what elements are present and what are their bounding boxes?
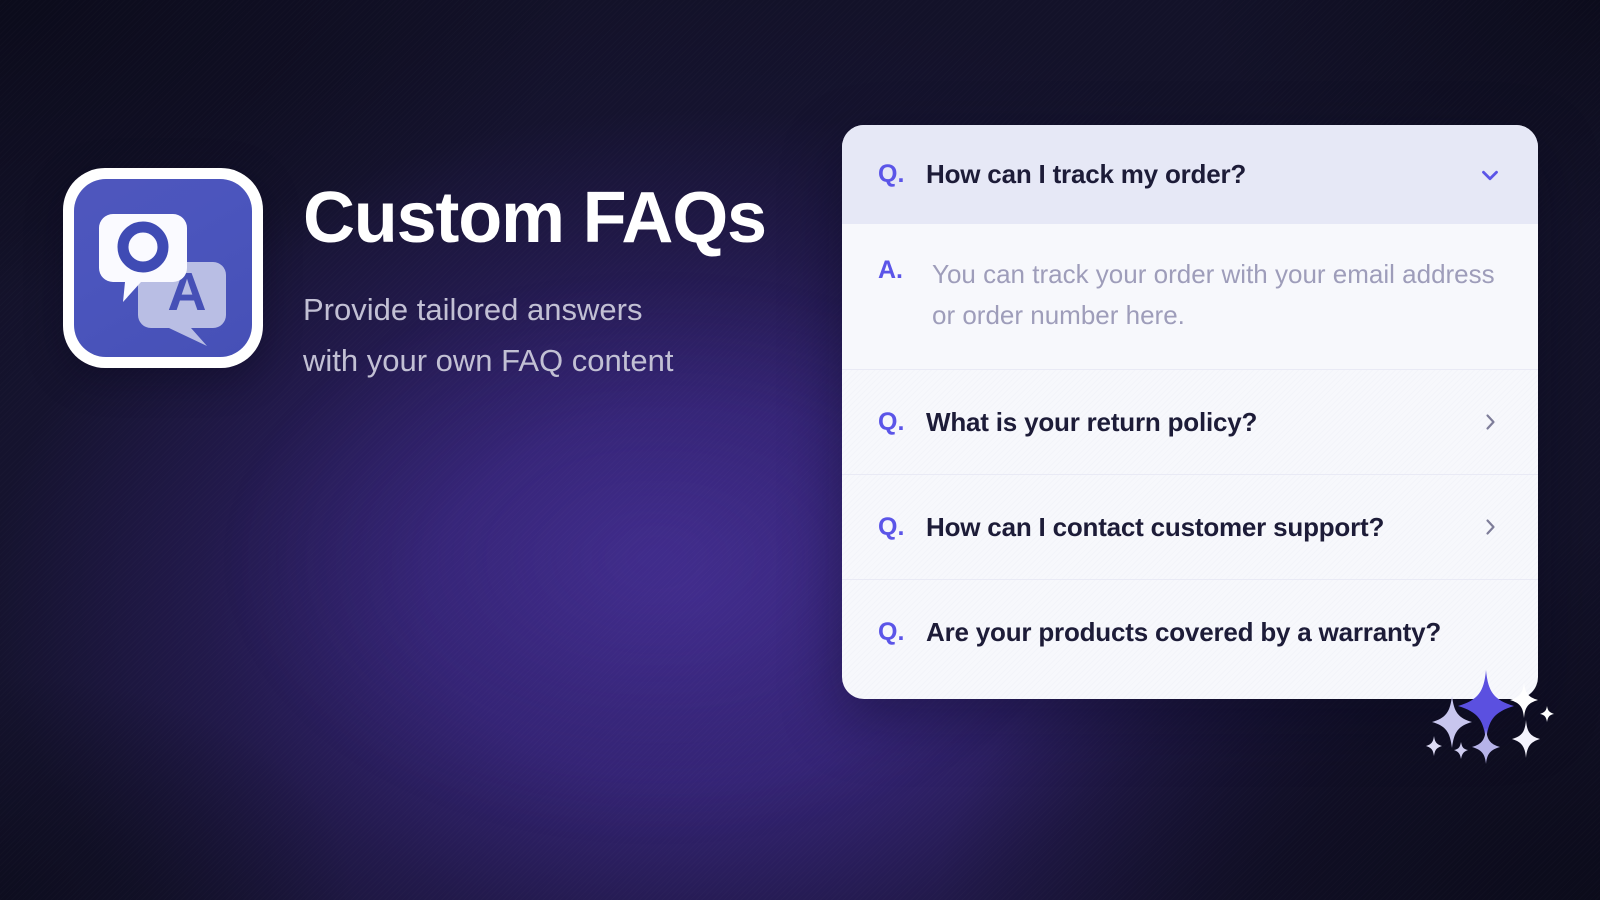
app-icon-frame: A [63, 168, 263, 368]
faq-question-row[interactable]: Q. Are your products covered by a warran… [842, 580, 1538, 684]
faq-question-text: How can I contact customer support? [926, 512, 1475, 543]
qa-speech-bubbles-glyph: A [74, 179, 252, 357]
question-prefix-label: Q. [878, 513, 926, 542]
qa-speech-bubbles-icon: A [74, 179, 252, 357]
page-subtitle: Provide tailored answers with your own F… [303, 284, 766, 387]
hero-text-block: Custom FAQs Provide tailored answers wit… [303, 168, 766, 387]
faq-question-text: Are your products covered by a warranty? [926, 617, 1505, 648]
page-subtitle-line-1: Provide tailored answers [303, 284, 766, 335]
page-subtitle-line-2: with your own FAQ content [303, 335, 766, 386]
faq-question-row[interactable]: Q. How can I track my order? [842, 125, 1538, 224]
question-prefix-label: Q. [878, 160, 926, 189]
answer-prefix-label: A. [878, 254, 932, 335]
faq-accordion-card: Q. How can I track my order? A. You can … [842, 125, 1538, 699]
faq-answer-text: You can track your order with your email… [932, 254, 1498, 335]
chevron-right-icon[interactable] [1475, 407, 1505, 437]
hero-section: A Custom FAQs Provide tailored answers w… [63, 168, 803, 387]
faq-question-text: What is your return policy? [926, 407, 1475, 438]
faq-answer-block: A. You can track your order with your em… [842, 224, 1538, 369]
faq-question-text: How can I track my order? [926, 159, 1475, 190]
page-title: Custom FAQs [303, 182, 766, 254]
chevron-right-icon[interactable] [1475, 512, 1505, 542]
faq-question-row[interactable]: Q. What is your return policy? [842, 370, 1538, 474]
faq-question-row[interactable]: Q. How can I contact customer support? [842, 475, 1538, 579]
chevron-down-icon[interactable] [1475, 160, 1505, 190]
question-prefix-label: Q. [878, 408, 926, 437]
question-prefix-label: Q. [878, 618, 926, 647]
